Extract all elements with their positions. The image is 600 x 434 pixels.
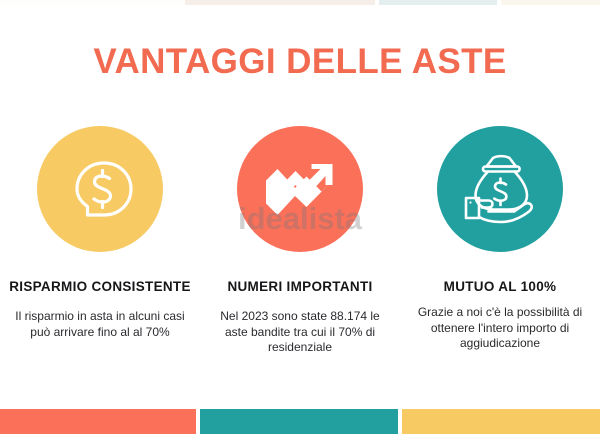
bottom-bar-yellow bbox=[402, 409, 600, 434]
trending-up-arrow-icon bbox=[262, 151, 338, 227]
feature-body-3: Grazie a noi c'è la possibilità di otten… bbox=[411, 305, 589, 352]
feature-heading-1: RISPARMIO CONSISTENTE bbox=[9, 278, 191, 295]
top-strip-segment bbox=[0, 0, 185, 5]
top-edge-strip bbox=[0, 0, 600, 5]
feature-icon-circle-1 bbox=[37, 126, 163, 252]
feature-columns: RISPARMIO CONSISTENTE Il risparmio in as… bbox=[0, 126, 600, 356]
feature-icon-circle-2 bbox=[237, 126, 363, 252]
top-strip-segment bbox=[501, 0, 600, 5]
feature-body-1: Il risparmio in asta in alcuni casi può … bbox=[11, 309, 189, 340]
feature-icon-circle-3 bbox=[437, 126, 563, 252]
feature-heading-2: NUMERI IMPORTANTI bbox=[227, 278, 372, 295]
feature-body-2: Nel 2023 sono state 88.174 le aste bandi… bbox=[211, 309, 389, 356]
hand-money-bag-icon bbox=[461, 154, 539, 224]
speech-bubble-dollar-icon bbox=[64, 153, 136, 225]
top-strip-segment bbox=[379, 0, 497, 5]
bottom-color-bars bbox=[0, 409, 600, 434]
bottom-bar-teal bbox=[200, 409, 398, 434]
infographic-slide: VANTAGGI DELLE ASTE RISPARMIO CONSISTENT… bbox=[0, 0, 600, 434]
feature-column-mutuo: MUTUO AL 100% Grazie a noi c'è la possib… bbox=[400, 126, 600, 356]
feature-heading-3: MUTUO AL 100% bbox=[444, 278, 557, 295]
page-title: VANTAGGI DELLE ASTE bbox=[0, 40, 600, 84]
top-strip-segment bbox=[185, 0, 375, 5]
feature-column-risparmio: RISPARMIO CONSISTENTE Il risparmio in as… bbox=[0, 126, 200, 356]
feature-column-numeri: NUMERI IMPORTANTI Nel 2023 sono state 88… bbox=[200, 126, 400, 356]
bottom-bar-coral bbox=[0, 409, 196, 434]
